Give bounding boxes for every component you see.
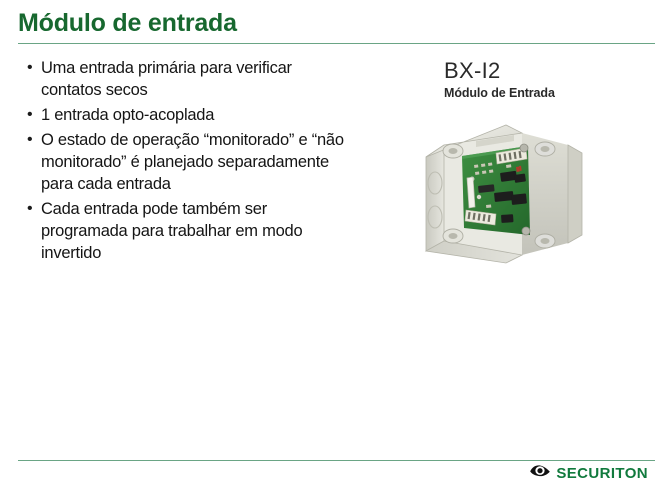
list-item: • O estado de operação “monitorado” e “n… (22, 129, 352, 195)
product-subtitle: Módulo de Entrada (444, 85, 555, 101)
bullet-marker-icon: • (22, 198, 41, 220)
footer-divider (18, 460, 655, 461)
page-title: Módulo de entrada (18, 9, 237, 38)
bullet-list: • Uma entrada primária para verificar co… (22, 57, 352, 267)
list-item-label: Cada entrada pode também ser programada … (41, 198, 352, 264)
eye-icon (529, 464, 551, 482)
brand-logo: SECURITON (529, 464, 648, 482)
list-item-label: 1 entrada opto-acoplada (41, 104, 214, 126)
product-name: BX-I2 (444, 58, 555, 84)
brand-name: SECURITON (556, 465, 648, 482)
bullet-marker-icon: • (22, 57, 41, 79)
bullet-marker-icon: • (22, 104, 41, 126)
list-item: • Uma entrada primária para verificar co… (22, 57, 352, 101)
list-item-label: O estado de operação “monitorado” e “não… (41, 129, 352, 195)
title-divider (18, 43, 655, 44)
product-caption: BX-I2 Módulo de Entrada (444, 58, 555, 101)
list-item: • 1 entrada opto-acoplada (22, 104, 352, 126)
product-image (418, 115, 598, 267)
list-item: • Cada entrada pode também ser programad… (22, 198, 352, 264)
bullet-marker-icon: • (22, 129, 41, 151)
list-item-label: Uma entrada primária para verificar cont… (41, 57, 352, 101)
